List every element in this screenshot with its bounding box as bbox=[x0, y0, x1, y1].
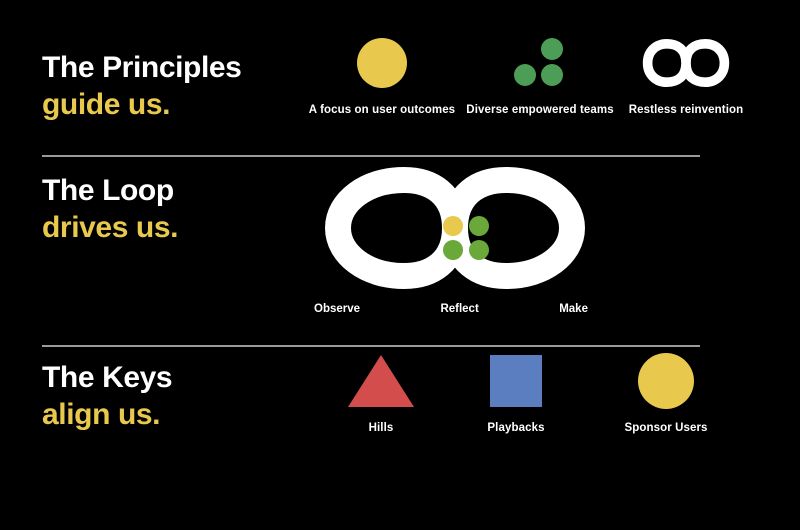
blue-square-icon bbox=[490, 355, 542, 407]
yellow-circle-icon bbox=[638, 353, 694, 409]
green-dot bbox=[443, 240, 463, 260]
loop-diagram[interactable]: Observe Reflect Make bbox=[300, 160, 800, 338]
green-dot bbox=[514, 64, 536, 86]
principle-item-empowered-teams[interactable]: Diverse empowered teams bbox=[464, 32, 616, 116]
key-item-playbacks[interactable]: Playbacks bbox=[450, 350, 582, 434]
principle-caption-restless-reinvention: Restless reinvention bbox=[629, 104, 743, 116]
key-caption-playbacks: Playbacks bbox=[487, 422, 544, 434]
principles-heading: The Principles guide us. bbox=[0, 32, 300, 123]
keys-heading: The Keys align us. bbox=[0, 350, 300, 433]
three-green-dots-icon bbox=[514, 38, 566, 88]
red-triangle-icon bbox=[348, 355, 414, 407]
keys-heading-line1: The Keys bbox=[42, 360, 300, 397]
principle-item-restless-reinvention[interactable]: Restless reinvention bbox=[622, 32, 750, 116]
loop-caption-group: Observe Reflect Make bbox=[300, 303, 600, 315]
key-item-sponsor-users[interactable]: Sponsor Users bbox=[596, 350, 736, 434]
loop-heading-line1: The Loop bbox=[42, 173, 300, 210]
section-divider-2 bbox=[42, 345, 700, 347]
icon-art-wrapper bbox=[357, 32, 407, 94]
loop-caption-observe: Observe bbox=[314, 303, 360, 315]
icon-art-wrapper bbox=[348, 350, 414, 412]
green-dot bbox=[541, 64, 563, 86]
loop-caption-make: Make bbox=[559, 303, 588, 315]
keys-heading-line2: align us. bbox=[42, 397, 300, 434]
key-item-hills[interactable]: Hills bbox=[326, 350, 436, 434]
loop-heading: The Loop drives us. bbox=[0, 160, 300, 246]
yellow-circle-icon bbox=[357, 38, 407, 88]
principles-heading-line1: The Principles bbox=[42, 50, 300, 87]
principle-caption-empowered-teams: Diverse empowered teams bbox=[466, 104, 613, 116]
icon-art-wrapper bbox=[490, 350, 542, 412]
principles-icon-group: A focus on user outcomes Diverse empower… bbox=[300, 32, 800, 116]
key-caption-hills: Hills bbox=[369, 422, 394, 434]
icon-art-wrapper bbox=[638, 32, 734, 94]
principle-item-user-outcomes[interactable]: A focus on user outcomes bbox=[306, 32, 458, 116]
green-dot bbox=[469, 216, 489, 236]
section-keys: The Keys align us. Hills Playbacks bbox=[0, 350, 800, 460]
principle-caption-user-outcomes: A focus on user outcomes bbox=[309, 104, 455, 116]
section-principles: The Principles guide us. A focus on user… bbox=[0, 32, 800, 147]
key-caption-sponsor-users: Sponsor Users bbox=[624, 422, 707, 434]
icon-art-wrapper bbox=[514, 32, 566, 94]
section-divider-1 bbox=[42, 155, 700, 157]
green-dot bbox=[541, 38, 563, 60]
infinity-icon bbox=[638, 39, 734, 87]
loop-caption-reflect: Reflect bbox=[440, 303, 478, 315]
icon-art-wrapper bbox=[638, 350, 694, 412]
loop-center-dots bbox=[443, 216, 489, 260]
yellow-dot bbox=[443, 216, 463, 236]
section-loop: The Loop drives us. Observe Reflect Make bbox=[0, 160, 800, 338]
green-dot bbox=[469, 240, 489, 260]
loop-heading-line2: drives us. bbox=[42, 210, 300, 247]
principles-heading-line2: guide us. bbox=[42, 87, 300, 124]
slide-canvas: The Principles guide us. A focus on user… bbox=[0, 0, 800, 530]
keys-icon-group: Hills Playbacks Sponsor Users bbox=[300, 350, 800, 434]
